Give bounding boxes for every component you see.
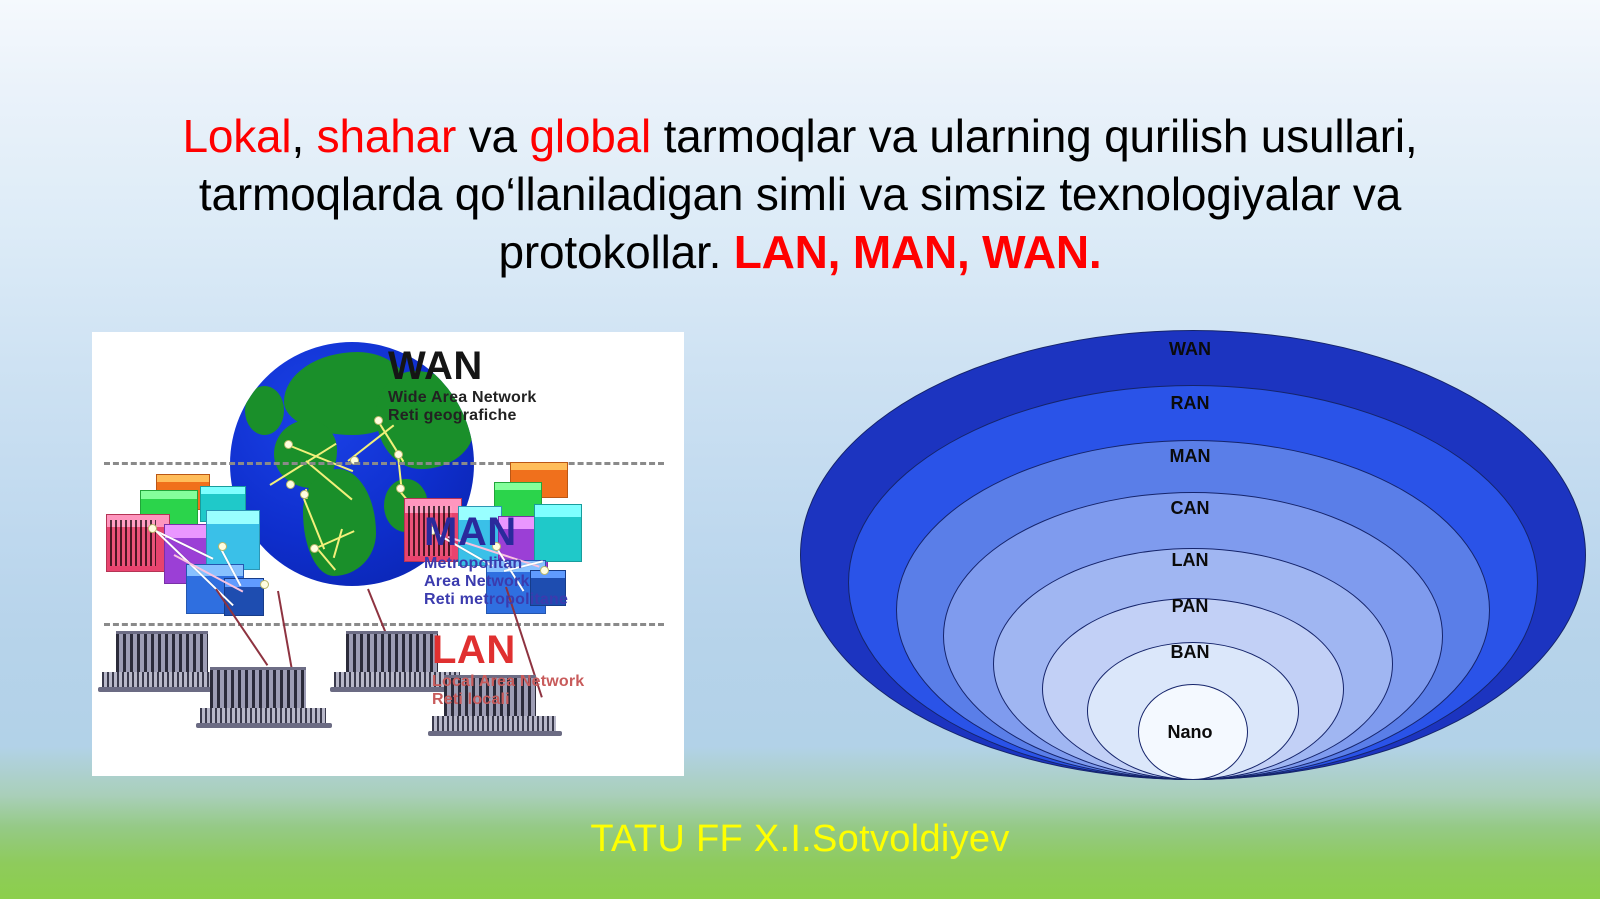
figure-label-man-sub1: Metropolitan	[424, 555, 568, 573]
slide-canvas: Lokal, shahar va global tarmoqlar va ula…	[0, 0, 1600, 899]
title-acronyms: LAN, MAN, WAN.	[734, 226, 1102, 278]
title-word-lokal: Lokal	[182, 110, 291, 162]
figure-label-lan-main: LAN	[432, 628, 584, 673]
title-word-shahar: shahar	[317, 110, 456, 162]
city-cluster-left	[102, 468, 292, 628]
ring-label-man: MAN	[790, 446, 1590, 467]
network-scope-illustration: WAN Wide Area Network Reti geografiche M…	[92, 332, 684, 776]
ring-label-lan: LAN	[790, 550, 1590, 571]
title-sep-2: va	[456, 110, 529, 162]
figure-label-wan: WAN Wide Area Network Reti geografiche	[388, 344, 536, 425]
figure-label-man-sub2: Area Network	[424, 573, 568, 591]
figure-label-lan-sub2: Reti locali	[432, 691, 584, 709]
figure-label-wan-sub1: Wide Area Network	[388, 389, 536, 407]
ring-label-ran: RAN	[790, 393, 1590, 414]
title-word-global: global	[529, 110, 651, 162]
title-sep-1: ,	[291, 110, 316, 162]
figure-label-lan-sub1: Local Area Network	[432, 673, 584, 691]
figure-label-man-sub3: Reti metropolitane	[424, 591, 568, 609]
footer-credit: TATU FF X.I.Sotvoldiyev	[0, 818, 1600, 861]
figure-label-wan-main: WAN	[388, 344, 536, 389]
ring-label-pan: PAN	[790, 596, 1590, 617]
page-title: Lokal, shahar va global tarmoqlar va ula…	[120, 108, 1480, 282]
figure-label-man: MAN Metropolitan Area Network Reti metro…	[424, 510, 568, 609]
ring-label-wan: WAN	[790, 339, 1590, 360]
figure-label-man-main: MAN	[424, 510, 568, 555]
ring-label-ban: BAN	[790, 642, 1590, 663]
figure-label-lan: LAN Local Area Network Reti locali	[432, 628, 584, 709]
figure-label-wan-sub2: Reti geografiche	[388, 407, 536, 425]
ring-label-can: CAN	[790, 498, 1590, 519]
ring-label-nano: Nano	[790, 722, 1590, 743]
office-building	[200, 668, 328, 728]
network-scope-ring-diagram: WANRANMANCANLANPANBANNano	[790, 318, 1590, 788]
